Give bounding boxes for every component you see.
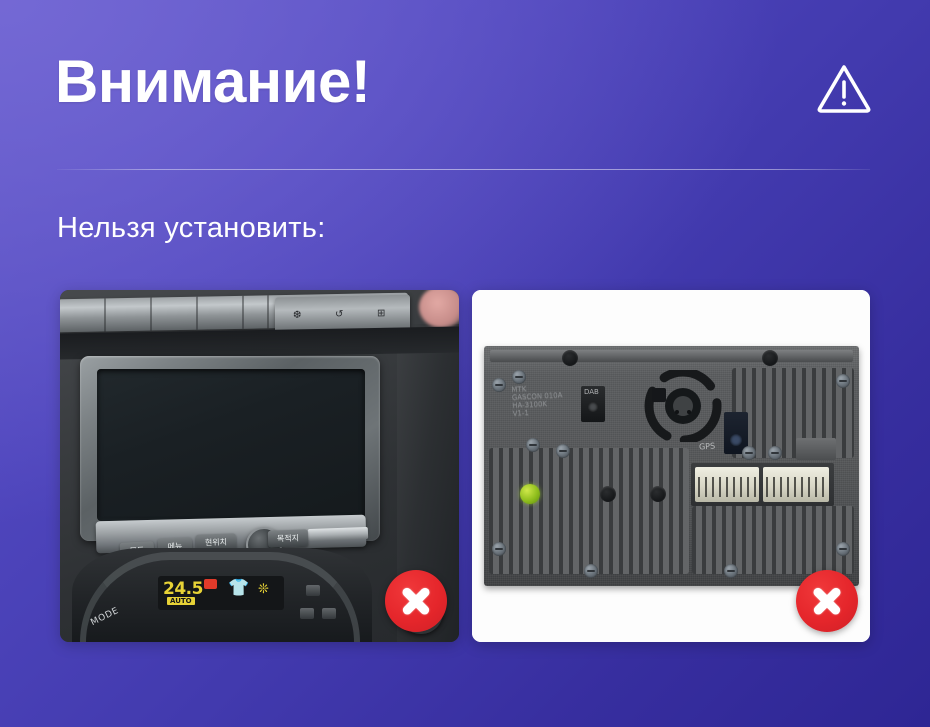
vent-divider [196,297,198,330]
mounting-bracket-1 [484,368,498,414]
vent-divider [242,296,244,329]
chassis-screw-7 [768,446,782,460]
heatsink-fins-bottom [692,506,854,574]
dashboard-image: ❆↺⊞ 모드메뉴현위치목적지 24.5 AUTO 👕 ❊ MODE ▲ A [60,290,459,642]
dashboard-top-button-1-icon[interactable]: ❆ [293,310,301,321]
iso-connector-1[interactable] [695,467,759,502]
card-dashboard-photo: ❆↺⊞ 모드메뉴현위치목적지 24.5 AUTO 👕 ❊ MODE ▲ A [60,290,459,642]
connector-pins [766,477,826,497]
dashboard-key-4[interactable]: 목적지 [268,529,309,547]
climate-auto-indicator: AUTO [167,597,195,605]
mounting-bracket-4 [845,526,859,572]
chassis-screw-6 [742,446,756,460]
warning-triangle-icon [816,62,872,114]
dashboard-top-button-2-icon[interactable]: ↺ [335,309,343,320]
iso-connector-block[interactable] [691,463,834,506]
chassis-screw-11 [724,564,738,578]
chassis-top-rail [490,350,853,362]
climate-lcd-display: 24.5 AUTO 👕 ❊ [158,576,284,610]
forbidden-x-badge-right [796,570,858,632]
climate-fan-icon: ❊ [258,582,269,597]
fan-vent-icon [644,370,722,442]
chassis-screw-10 [584,564,598,578]
forbidden-x-badge-left [385,570,447,632]
chassis-small-port [796,438,836,460]
green-indicator-dot [520,484,540,504]
dab-port-label: DAB [584,388,599,396]
climate-ac-indicator [204,579,217,589]
chassis-screw-4 [556,444,570,458]
header-divider [57,169,870,170]
mounting-bracket-2 [845,368,859,414]
dashboard-reflection [419,290,459,328]
dashboard-screen [97,369,365,521]
card-head-unit-photo: DAB GPS MTK GASCON 010A HA-3100K V1-1 [472,290,870,642]
subtitle-label: Нельзя установить: [57,212,326,245]
gps-port-label: GPS [699,441,716,451]
climate-small-button-2[interactable] [300,608,314,619]
dashboard-disc-slot [308,527,368,541]
chassis-hole-2 [650,486,666,502]
climate-temperature: 24.5 [163,579,203,599]
chassis-screw-3 [526,438,540,452]
page-title: Внимание! [55,50,370,113]
head-unit-chassis: DAB GPS MTK GASCON 010A HA-3100K V1-1 [484,346,859,586]
head-unit-image: DAB GPS MTK GASCON 010A HA-3100K V1-1 [472,290,870,642]
chassis-hole-4 [762,350,778,366]
warning-slide: Внимание! Нельзя установить: ❆↺⊞ 모드메뉴현위치… [0,0,930,727]
vent-divider [267,295,269,328]
chassis-plate [542,494,604,528]
chassis-hole-3 [562,350,578,366]
vent-divider [104,298,106,331]
chassis-dark-box [652,388,666,402]
iso-connector-2[interactable] [763,467,829,502]
mounting-bracket-3 [484,526,498,572]
molded-part-number: MTK GASCON 010A HA-3100K V1-1 [511,382,575,417]
dashboard-top-button-3-icon[interactable]: ⊞ [377,308,385,319]
chassis-hole-1 [600,486,616,502]
connector-pins [698,477,756,497]
climate-airflow-icon: 👕 [228,578,249,598]
vent-divider [150,298,152,331]
climate-small-button-1[interactable] [306,585,320,596]
climate-small-button-3[interactable] [322,608,336,619]
chassis-screw-1 [512,370,526,384]
